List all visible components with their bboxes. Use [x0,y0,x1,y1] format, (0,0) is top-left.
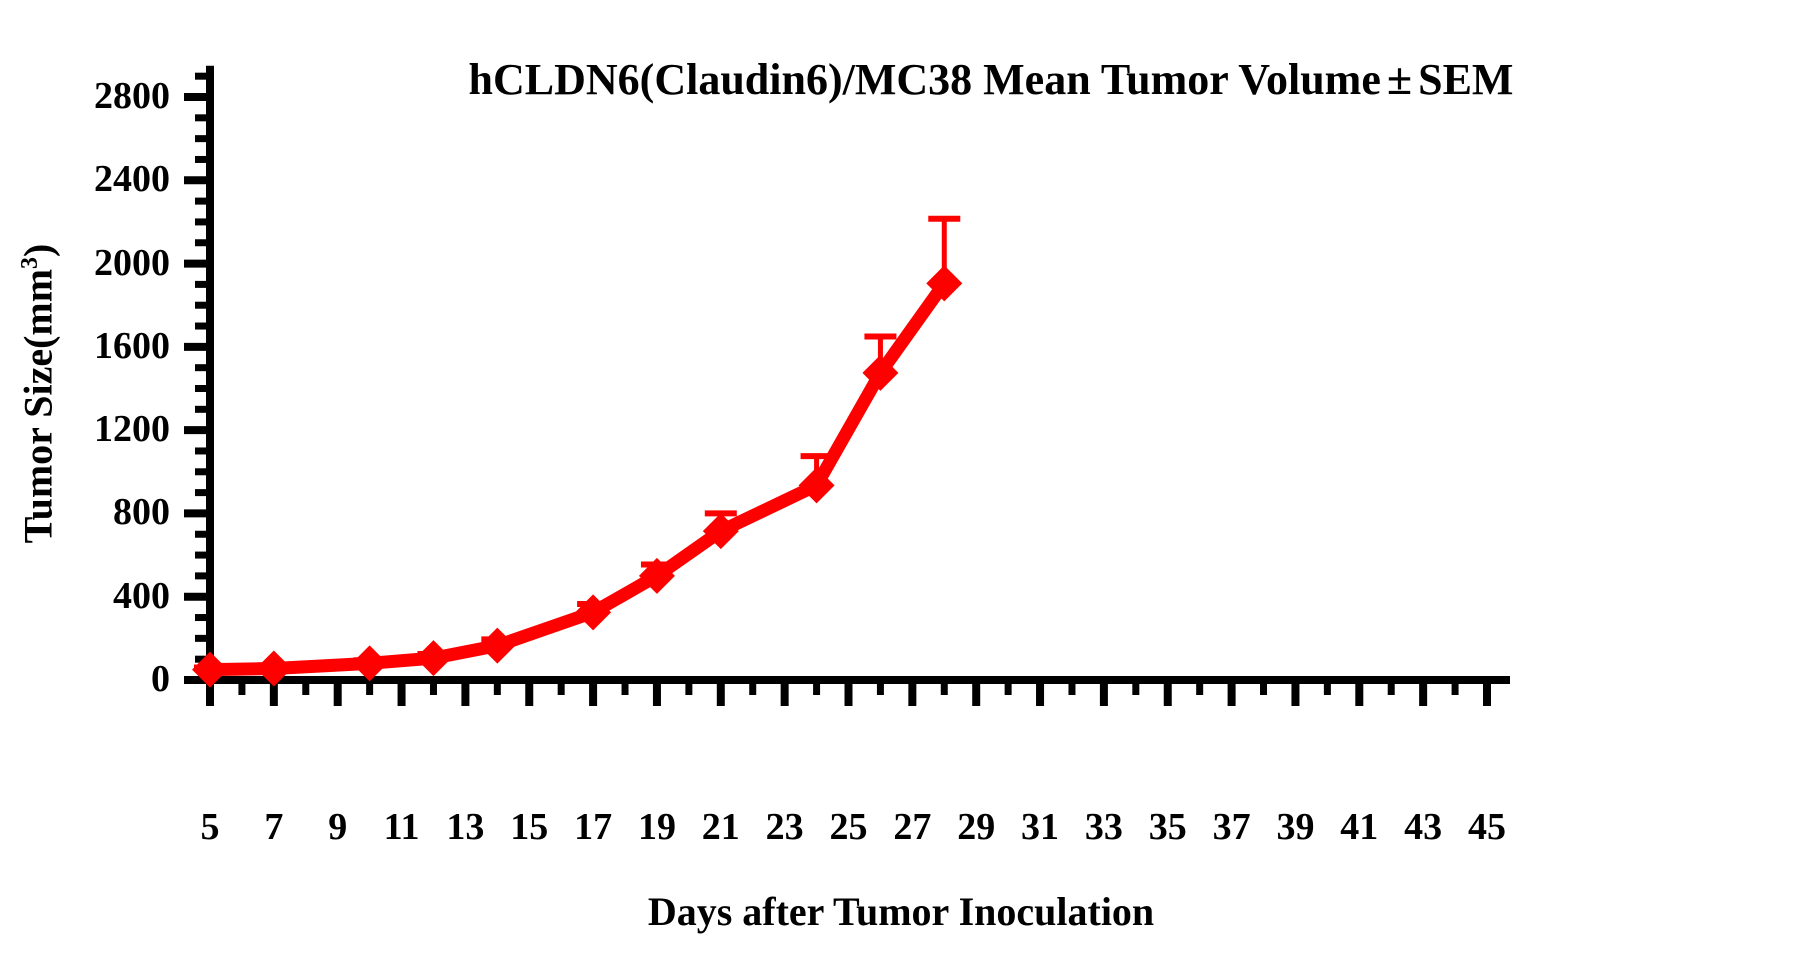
y-tick-label: 2000 [0,244,170,282]
y-tick-label: 400 [0,577,170,615]
series-hcldn6 [192,219,962,688]
data-point-marker [352,645,388,681]
y-tick-label: 2400 [0,160,170,198]
x-tick-label: 45 [1447,808,1527,846]
data-point-marker [415,640,451,676]
y-tick-label: 2800 [0,77,170,115]
y-tick-label: 1200 [0,410,170,448]
y-tick-label: 800 [0,493,170,531]
y-tick-label: 1600 [0,327,170,365]
chart-figure: hCLDN6(Claudin6)/MC38 Mean Tumor Volume±… [0,0,1802,978]
data-point-marker [479,628,515,664]
y-tick-label: 0 [0,660,170,698]
